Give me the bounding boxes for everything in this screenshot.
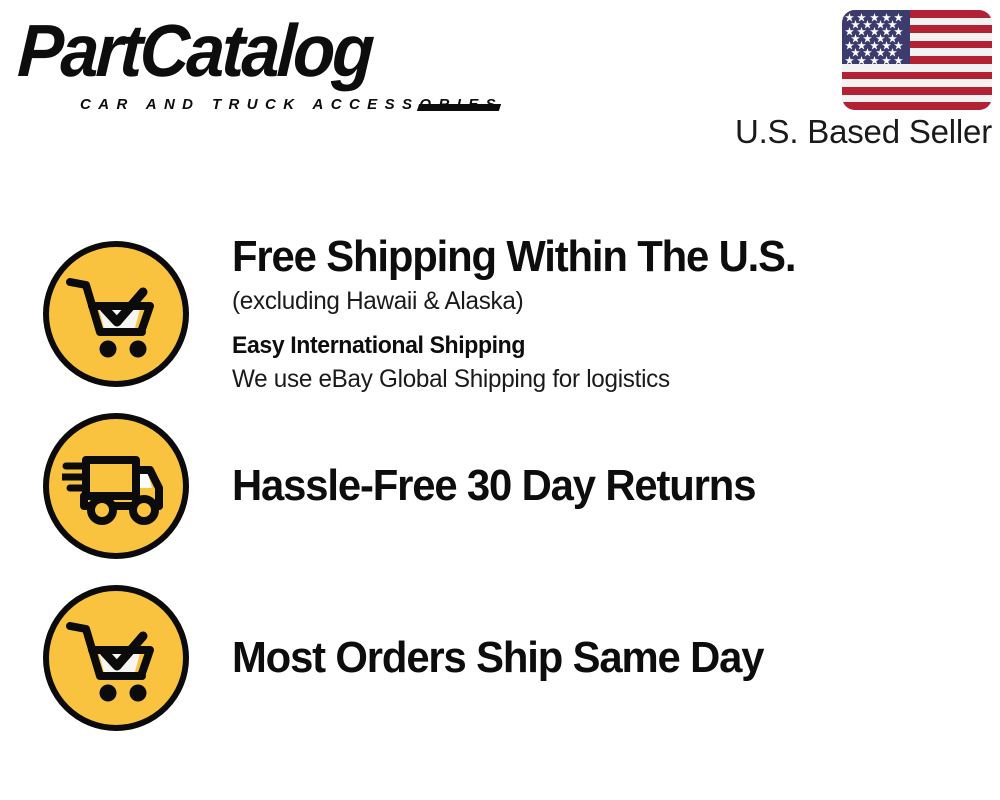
feature-subnote: (excluding Hawaii & Alaska) (232, 285, 958, 319)
feature-text: Hassle-Free 30 Day Returns (232, 462, 1000, 510)
seller-label: U.S. Based Seller (722, 114, 992, 150)
shopping-cart-check-icon (43, 241, 189, 387)
delivery-truck-icon (43, 413, 189, 559)
feature-list: Free Shipping Within The U.S. (excluding… (0, 228, 1000, 744)
flag-star-icon (857, 56, 866, 65)
shopping-cart-check-icon (43, 585, 189, 731)
feature-row: Free Shipping Within The U.S. (excluding… (0, 228, 1000, 400)
feature-sub-detail: We use eBay Global Shipping for logistic… (232, 363, 958, 397)
feature-icon-wrap (0, 241, 232, 387)
us-based-seller-badge: U.S. Based Seller (722, 10, 992, 150)
feature-row: Hassle-Free 30 Day Returns (0, 400, 1000, 572)
flag-star-icon (870, 56, 879, 65)
flag-stripe (842, 72, 992, 80)
feature-icon-wrap (0, 413, 232, 559)
seller-banner-page: PartCatalog CAR AND TRUCK ACCESSORIES U.… (0, 0, 1000, 800)
flag-stripe (842, 102, 992, 110)
brand-wordmark: PartCatalog (16, 14, 373, 88)
feature-heading: Hassle-Free 30 Day Returns (232, 462, 943, 510)
flag-star-icon (894, 56, 903, 65)
flag-canton (842, 10, 910, 64)
feature-heading: Most Orders Ship Same Day (232, 634, 943, 682)
brand-swoosh-accent (417, 104, 501, 111)
feature-text: Most Orders Ship Same Day (232, 634, 1000, 682)
feature-heading: Free Shipping Within The U.S. (232, 233, 943, 281)
flag-stripe (842, 95, 992, 103)
feature-sub-bold: Easy International Shipping (232, 330, 950, 361)
feature-icon-wrap (0, 585, 232, 731)
feature-text: Free Shipping Within The U.S. (excluding… (232, 231, 1000, 397)
flag-star-icon (845, 56, 854, 65)
feature-row: Most Orders Ship Same Day (0, 572, 1000, 744)
flag-stripe (842, 64, 992, 72)
flag-stripe (842, 79, 992, 87)
us-flag-icon (842, 10, 992, 110)
flag-star-icon (882, 56, 891, 65)
brand-logo: PartCatalog CAR AND TRUCK ACCESSORIES (18, 20, 498, 115)
flag-stripe (842, 87, 992, 95)
